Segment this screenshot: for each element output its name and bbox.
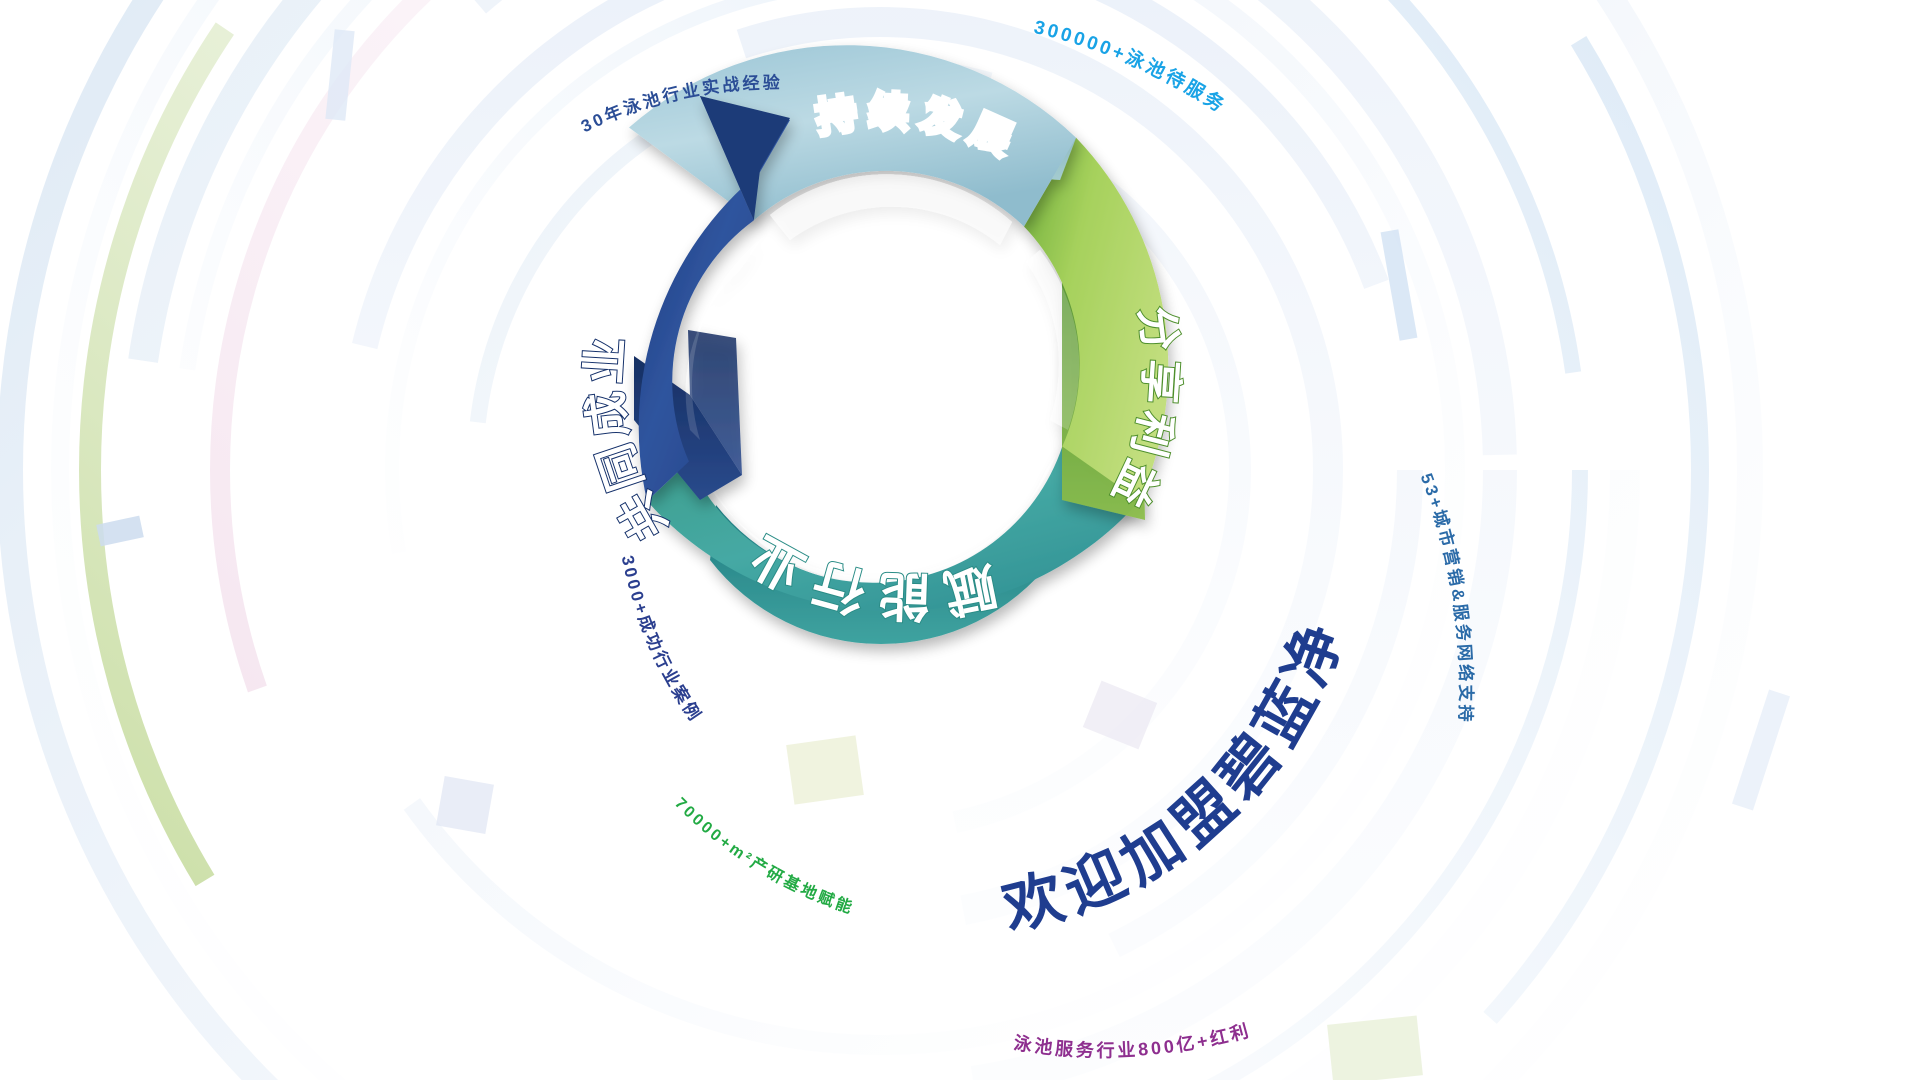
headline-text: 欢迎加盟碧蓝净水 [0, 0, 1358, 943]
headline-layer: 欢迎加盟碧蓝净水 [0, 0, 1920, 1080]
infographic-canvas: 共同成业 持续发展 分享利益 赋能行业 30年泳池行业实战经验 [0, 0, 1920, 1080]
